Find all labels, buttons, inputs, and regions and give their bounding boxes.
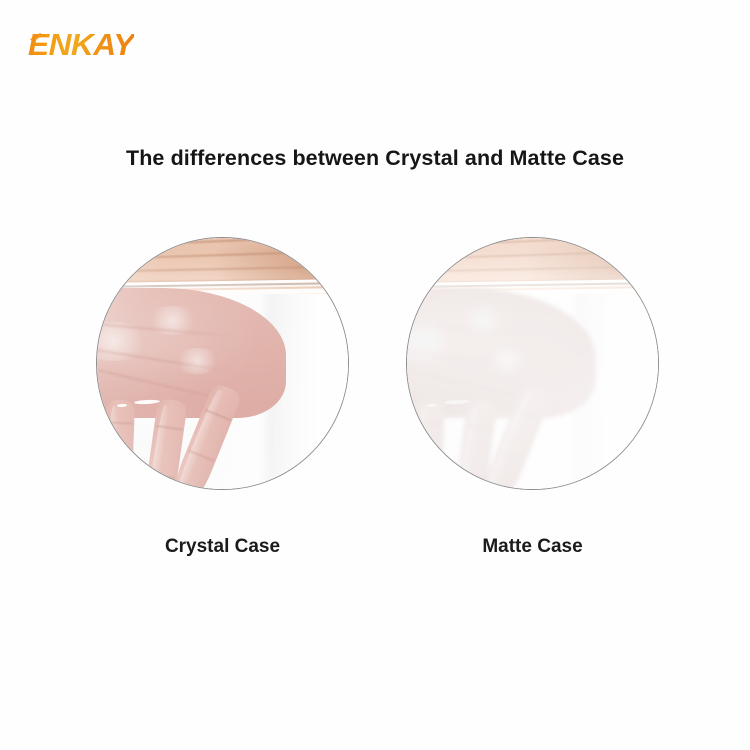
finger — [411, 399, 445, 490]
hand-behind-clear-case-icon — [96, 237, 349, 490]
hand-through-case — [96, 288, 349, 490]
caption-crystal-case: Crystal Case — [96, 536, 349, 558]
crystal-case-photo — [96, 237, 349, 490]
palm — [406, 288, 596, 418]
palm-highlight — [483, 348, 531, 374]
case-comparison-section: Crystal Case Matte Case — [0, 0, 750, 750]
finger-highlight — [415, 406, 429, 490]
sample-matte — [406, 237, 659, 490]
hand-through-case — [406, 288, 659, 490]
matte-case-photo — [406, 237, 659, 490]
palm — [96, 288, 286, 418]
finger-highlight — [105, 406, 119, 490]
finger — [101, 399, 135, 490]
sample-crystal — [96, 237, 349, 490]
palm-highlight — [173, 348, 221, 374]
hand-behind-matte-case-icon — [406, 237, 659, 490]
caption-matte-case: Matte Case — [406, 536, 659, 558]
